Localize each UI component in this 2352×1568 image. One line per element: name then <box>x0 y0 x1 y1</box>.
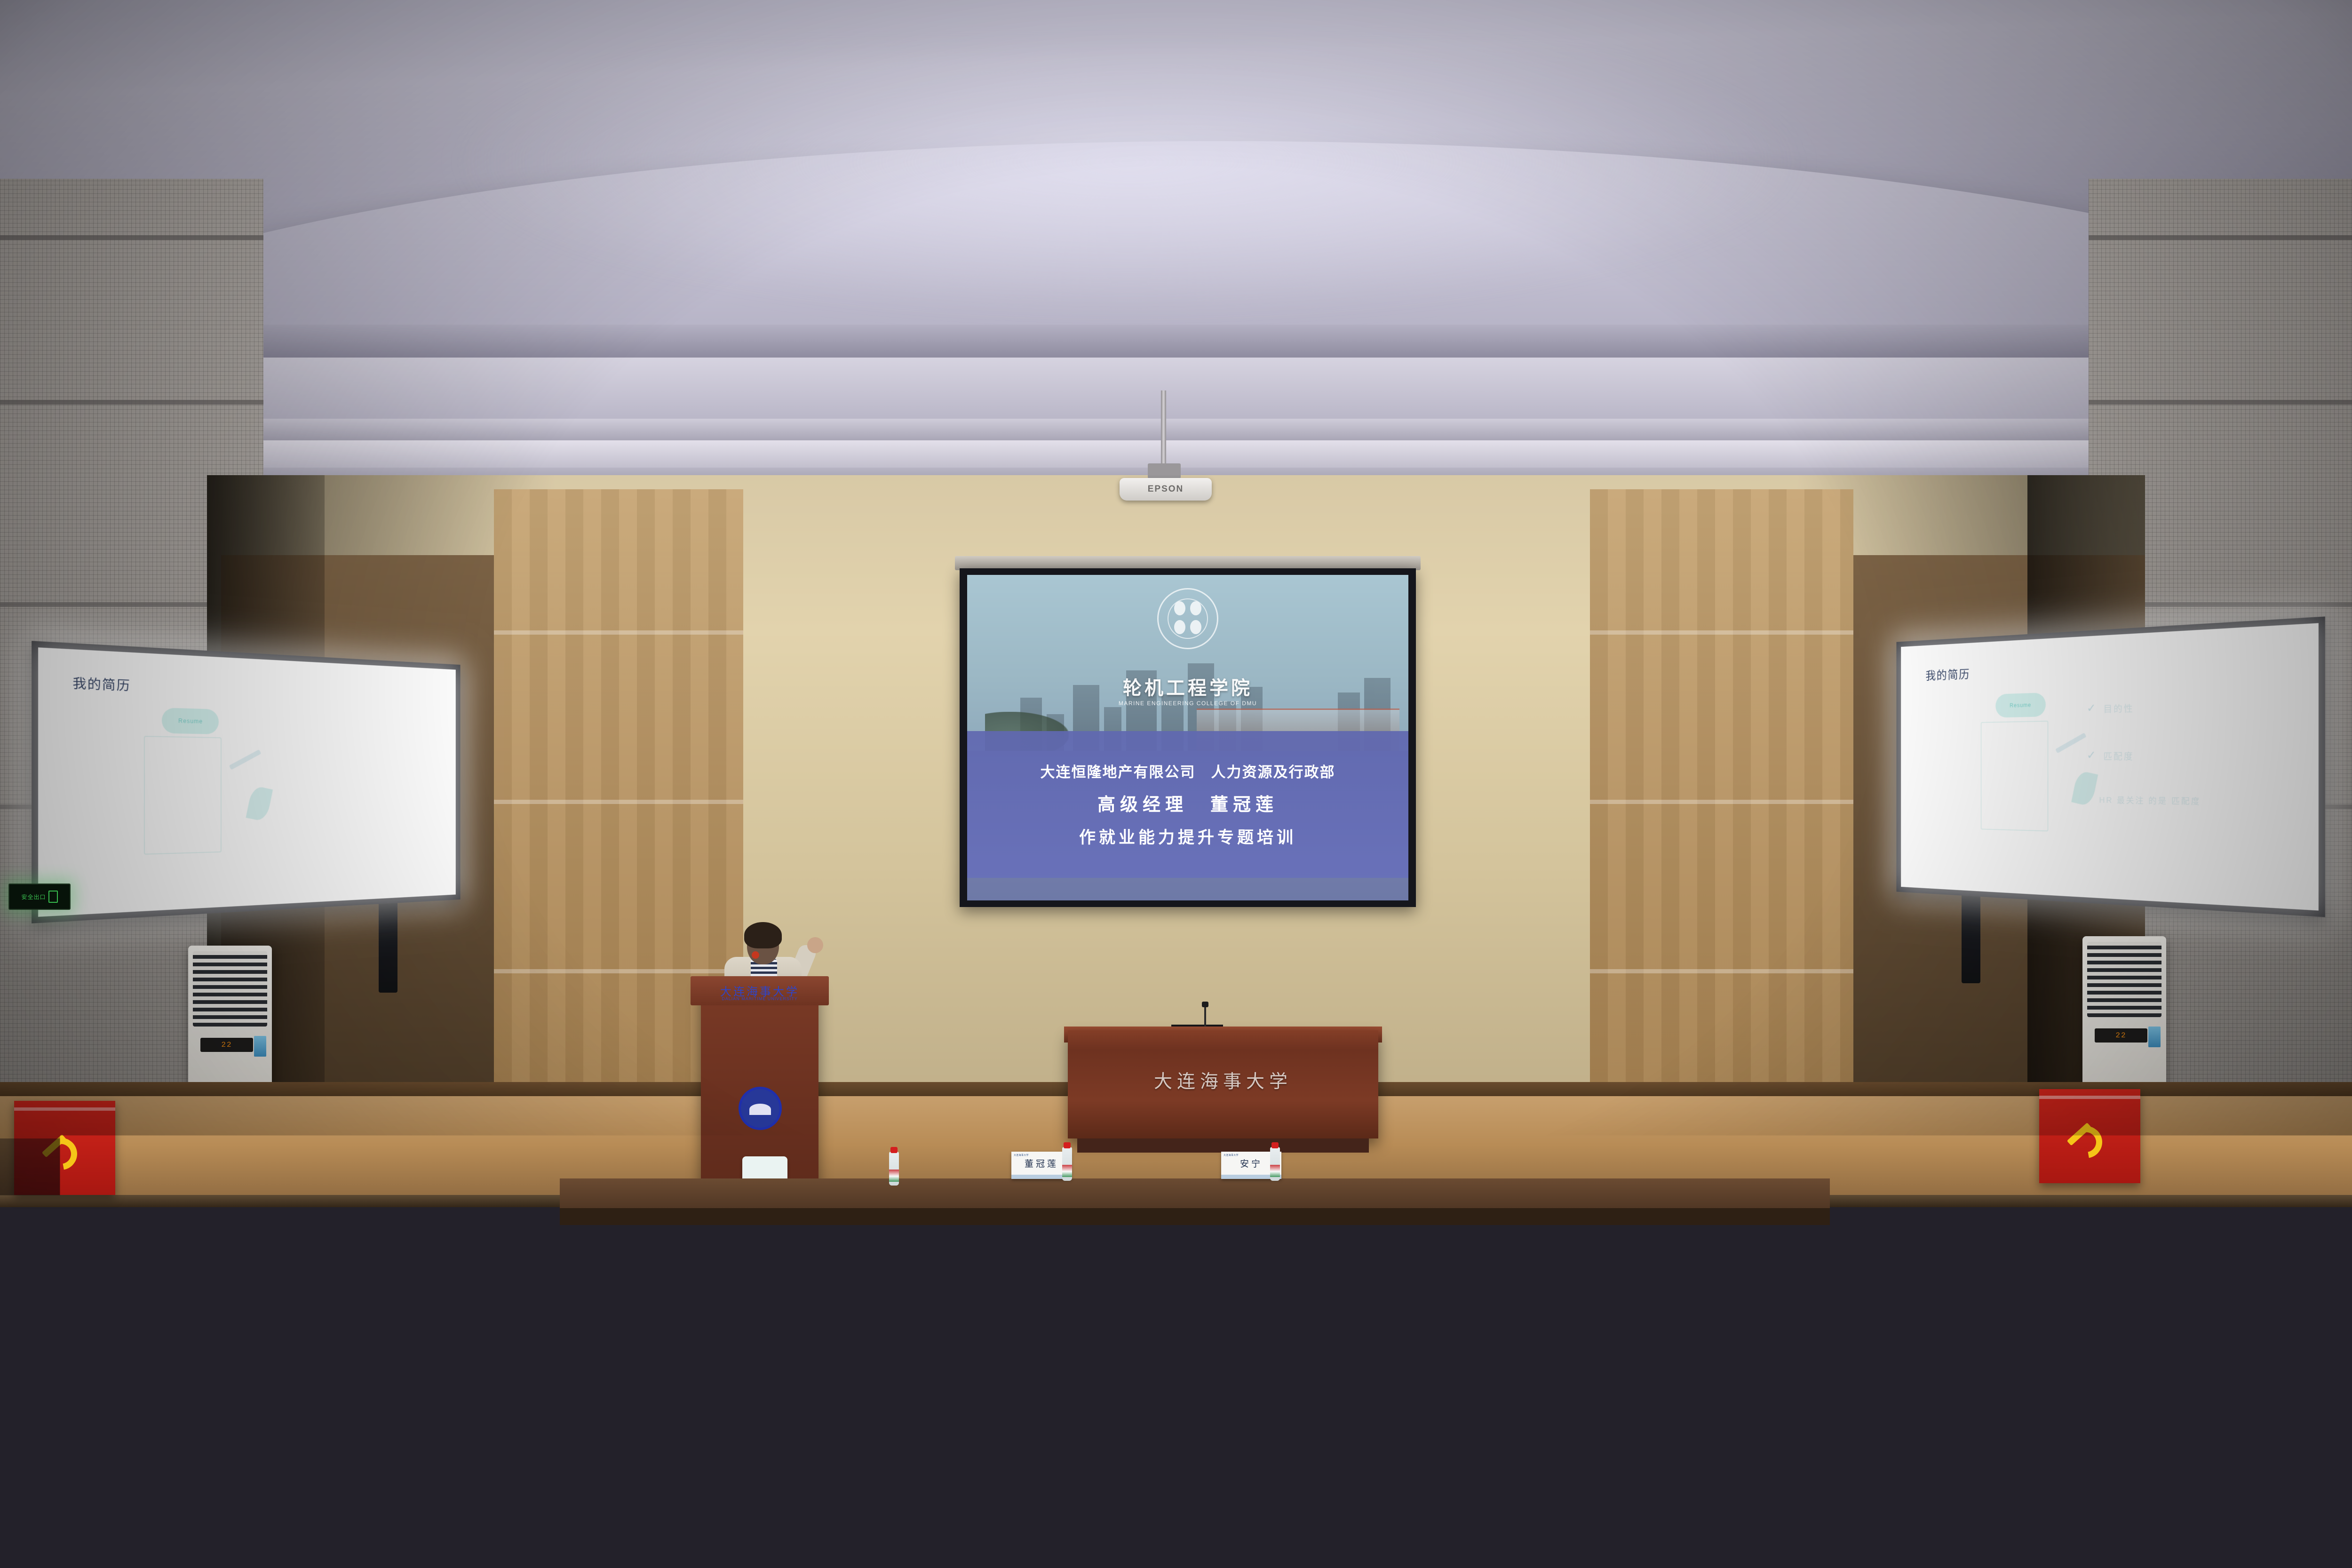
seat-number: 048 <box>444 1563 462 1568</box>
left-tv-screen: 我的简历 Resume <box>38 647 456 917</box>
projector-bracket <box>1148 463 1181 478</box>
projection-screen-frame: 轮机工程学院 MARINE ENGINEERING COLLEGE OF DMU… <box>960 568 1416 907</box>
attendee <box>61 1336 146 1428</box>
attendee <box>2239 1303 2324 1395</box>
attendee <box>861 1235 937 1319</box>
seat-number: 054 <box>1770 1332 1789 1345</box>
right-ac-temperature: 22 <box>2115 1031 2126 1040</box>
seat-number-badge: 055 <box>1321 1430 1347 1455</box>
attendee <box>47 1247 122 1329</box>
attendee <box>1788 1512 1905 1568</box>
attendee <box>1138 1324 1222 1415</box>
right-tv-footer: HR 最关注 的是 匹配度 <box>2099 793 2201 807</box>
right-tv-bullet-2: 匹配度 <box>2104 749 2134 763</box>
slide-college-title-cn: 轮机工程学院 <box>967 673 1408 700</box>
seat[interactable] <box>889 1484 1050 1568</box>
attendee <box>179 1529 296 1568</box>
right-speaker-column <box>1962 884 1980 983</box>
projector-mount-pole <box>1161 390 1166 466</box>
lectern-name-en: DALIAN MARITIME UNIVERSITY <box>691 996 829 1001</box>
attendee <box>1298 1233 1375 1316</box>
row-tag: 2-9 <box>961 1203 970 1209</box>
right-tv-heading: 我的简历 <box>1926 665 1971 684</box>
attendee <box>1463 1317 1547 1408</box>
stage-table-university-name: 大连海事大学 <box>1068 1067 1378 1093</box>
attendee <box>221 1162 292 1237</box>
left-tv-leaf-shape <box>246 785 273 822</box>
right-tv-screen: 我的简历 Resume ✓ 目的性 ✓ 匹配度 HR 最关注 的是 匹配度 <box>1901 623 2319 910</box>
university-seal-icon <box>739 1087 782 1130</box>
attendee <box>1223 1425 1317 1526</box>
check-icon-1: ✓ <box>2087 701 2096 715</box>
slide-line-2: 高级经理 董冠莲 <box>1097 790 1278 816</box>
college-crest-icon <box>1157 588 1218 649</box>
right-tv-bullet-1: 目的性 <box>2104 701 2134 715</box>
seat-number-badge: 039 <box>217 1449 242 1474</box>
attendee <box>668 1331 752 1422</box>
seat[interactable]: 4-10 <box>781 1381 928 1497</box>
seat-number: 049 <box>1446 1339 1464 1352</box>
right-ac-display: 22 <box>2095 1028 2147 1043</box>
seat-number: 039 <box>220 1456 239 1468</box>
slide-text-band: 大连恒隆地产有限公司 人力资源及行政部 高级经理 董冠莲 作就业能力提升专题培训 <box>967 731 1408 877</box>
lecture-hall-photo: EPSON <box>0 0 2352 1568</box>
exit-sign-label: 安全出口 <box>21 893 46 901</box>
left-tv-resume-label: Resume <box>178 717 203 725</box>
projector-brand-label: EPSON <box>1148 484 1184 494</box>
left-tv-pen-icon <box>229 749 261 770</box>
seat-number-badge: 054 <box>1767 1326 1792 1351</box>
attendee <box>1769 1228 1845 1312</box>
seat[interactable]: 2-10 <box>1143 1194 1268 1290</box>
right-tv-resume-label: Resume <box>2010 701 2031 708</box>
presenter-hair <box>744 922 782 948</box>
row-tag: 2-10 <box>1199 1202 1211 1208</box>
attendee <box>198 1250 273 1333</box>
attendee <box>1566 1418 1661 1520</box>
seat-number-badge: 056 <box>1422 1540 1448 1566</box>
seat-number: 061 <box>2256 1534 2274 1546</box>
seat-number: 055 <box>1325 1436 1343 1449</box>
left-display-tv: 我的简历 Resume <box>32 641 460 923</box>
attendee <box>2084 1143 2154 1219</box>
right-tv-pen-icon <box>2055 733 2086 754</box>
slide-line-1: 大连恒隆地产有限公司 人力资源及行政部 <box>1041 760 1335 781</box>
cornice-band-2 <box>0 358 2352 419</box>
slide-college-title-en: MARINE ENGINEERING COLLEGE OF DMU <box>967 700 1408 707</box>
right-tv-leaf-shape <box>2072 770 2098 807</box>
ceiling-light-glow <box>423 56 1835 320</box>
attendee <box>470 1531 588 1568</box>
attendee <box>993 1148 1064 1226</box>
right-tv-resume-badge: Resume <box>1995 692 2046 717</box>
row-tag: 1-16 <box>2201 1193 2213 1198</box>
attendee-white-uniform-front <box>1392 1143 1477 1237</box>
attendee <box>1722 1417 1816 1518</box>
attendee <box>1496 1517 1613 1568</box>
seat-number: 079 <box>2090 1326 2109 1339</box>
right-wood-panel <box>1590 489 1853 1124</box>
left-ac-grill <box>193 951 267 1027</box>
left-speaker-column <box>379 894 397 993</box>
projection-screen: 轮机工程学院 MARINE ENGINEERING COLLEGE OF DMU… <box>967 575 1408 900</box>
attendee-mint-jacket <box>607 1148 696 1242</box>
attendee <box>2230 1148 2300 1224</box>
attendee <box>85 1440 179 1541</box>
attendee <box>546 1433 640 1534</box>
left-ac-temperature: 22 <box>221 1041 232 1049</box>
attendee-checked-top <box>800 1153 882 1244</box>
cornice-band-3 <box>0 419 2352 440</box>
left-tv-document-outline <box>143 736 221 855</box>
seat-number-badge: 061 <box>1947 1416 1972 1441</box>
row-tag: 4-10 <box>848 1391 860 1396</box>
attendee <box>1966 1510 2084 1568</box>
attendee <box>767 1524 884 1568</box>
seat[interactable]: 061 <box>1886 1360 2033 1477</box>
presenter-hand <box>807 937 823 953</box>
seat[interactable]: 061 <box>2183 1463 2347 1568</box>
left-tv-resume-badge: Resume <box>162 708 219 735</box>
right-ac-energy-label <box>2148 1027 2161 1047</box>
seat[interactable]: 056 <box>1355 1477 1516 1568</box>
seat-number-badge: 079 <box>2087 1320 2112 1345</box>
attendee <box>536 1245 612 1329</box>
attendee <box>71 1157 141 1233</box>
check-icon-2: ✓ <box>2087 748 2096 762</box>
cornice-band-1 <box>0 325 2352 358</box>
right-tv-document-outline <box>1980 721 2048 832</box>
attendee <box>1082 1425 1176 1527</box>
right-ac-grill <box>2087 942 2161 1017</box>
left-tv-heading: 我的简历 <box>73 673 131 694</box>
audience-area: 1-4 015 2-5 2-9 2-10 1-15 1-16 033 5-6 2… <box>0 1138 2352 1568</box>
running-man-icon <box>48 891 58 903</box>
attendee <box>1623 1316 1707 1407</box>
left-ac-energy-label <box>254 1036 266 1057</box>
seat-number: 056 <box>1426 1547 1445 1560</box>
attendee <box>1068 1522 1185 1568</box>
attendee <box>2051 1411 2145 1512</box>
epson-projector: EPSON <box>1120 478 1212 501</box>
seat[interactable] <box>303 1213 428 1309</box>
attendee <box>2084 1221 2161 1305</box>
seat-number-badge: 061 <box>2252 1528 2278 1553</box>
slide-line-3: 作就业能力提升专题培训 <box>1079 824 1296 848</box>
emergency-exit-sign: 安全出口 <box>8 883 71 910</box>
left-ac-display: 22 <box>200 1038 253 1052</box>
right-display-tv: 我的简历 Resume ✓ 目的性 ✓ 匹配度 HR 最关注 的是 匹配度 <box>1896 616 2325 917</box>
seat-number: 061 <box>1950 1423 1969 1435</box>
presenter-microphone <box>752 951 759 959</box>
